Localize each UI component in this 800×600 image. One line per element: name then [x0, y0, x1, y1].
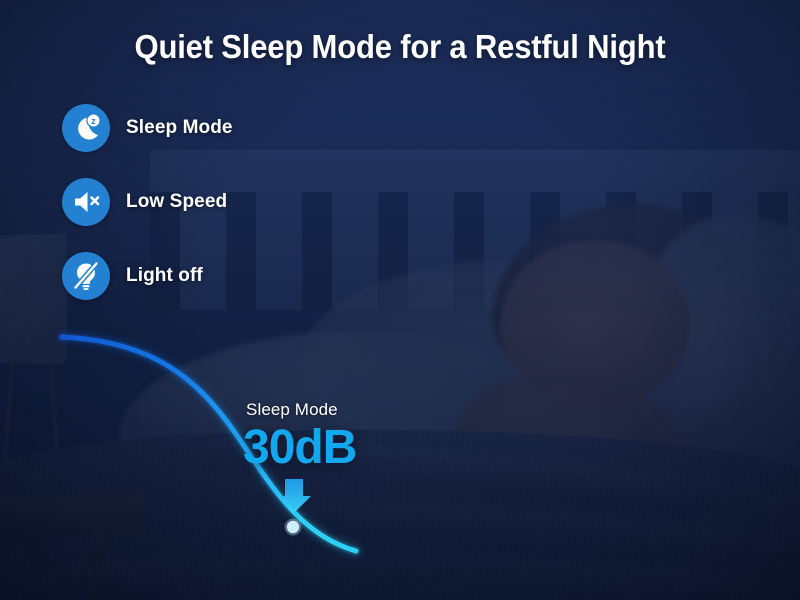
vignette-overlay: [0, 0, 800, 600]
page-title: Quiet Sleep Mode for a Restful Night: [24, 28, 776, 66]
feature-item-light-off[interactable]: Light off: [62, 252, 203, 300]
callout-label: Sleep Mode: [246, 400, 338, 420]
feature-label: Low Speed: [126, 191, 227, 213]
callout-value: 30dB: [243, 424, 356, 472]
svg-text:z: z: [91, 116, 96, 126]
bulb-off-icon: [62, 252, 110, 300]
feature-item-low-speed[interactable]: Low Speed: [62, 178, 227, 226]
sleep-mode-infographic: Quiet Sleep Mode for a Restful Night z S…: [0, 0, 800, 600]
speaker-mute-icon: [62, 178, 110, 226]
feature-item-sleep-mode[interactable]: z Sleep Mode: [62, 104, 233, 152]
moon-z-icon: z: [62, 104, 110, 152]
feature-label: Light off: [126, 265, 203, 287]
feature-label: Sleep Mode: [126, 117, 233, 139]
